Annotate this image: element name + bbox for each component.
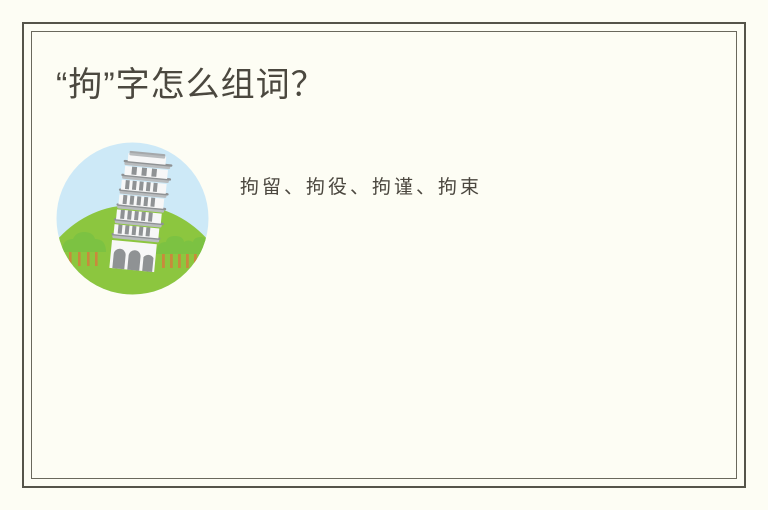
content-row: 拘留、拘役、拘谨、拘束: [56, 142, 706, 302]
qa-card-page: “拘”字怎么组词？: [0, 0, 768, 510]
page-title: “拘”字怎么组词？: [56, 62, 326, 108]
leaning-tower-of-pisa-icon: [56, 142, 209, 295]
answer-text: 拘留、拘役、拘谨、拘束: [240, 172, 700, 202]
